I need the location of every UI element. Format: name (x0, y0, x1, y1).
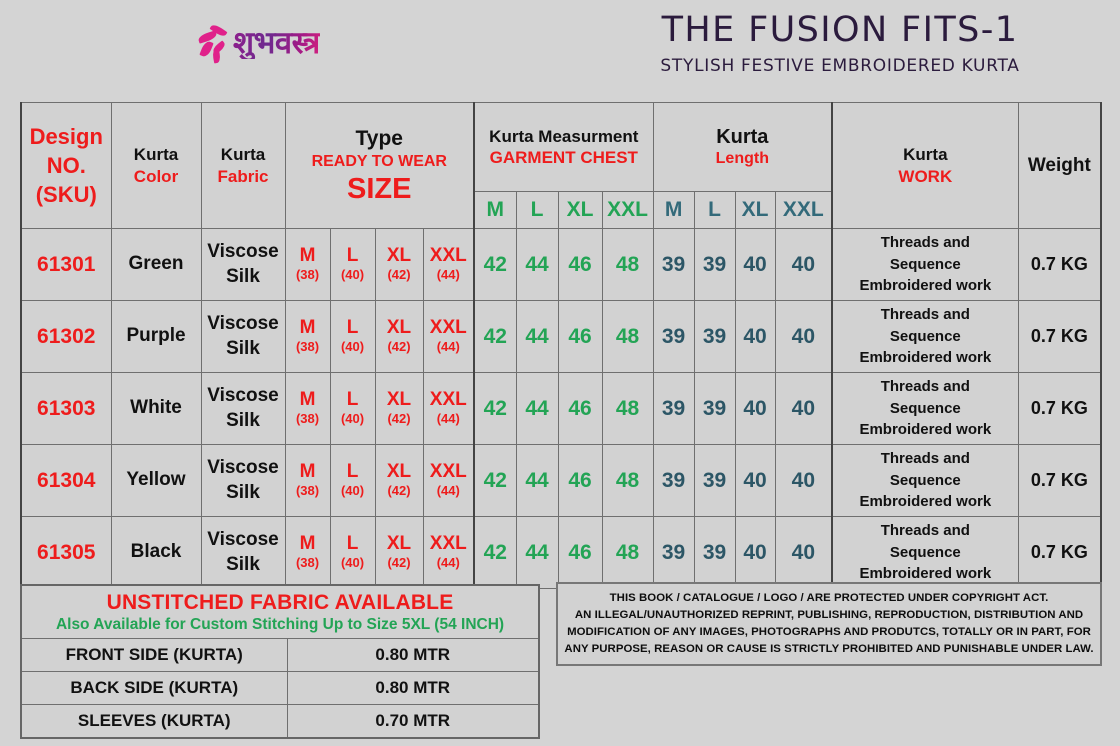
header-kurta-fabric: Kurta Fabric (201, 103, 285, 229)
cell-weight: 0.7 KG (1018, 517, 1101, 589)
cell-fabric: ViscoseSilk (201, 517, 285, 589)
cell-length-l: 39 (694, 229, 735, 301)
copyright-line-1: THIS BOOK / CATALOGUE / LOGO / ARE PROTE… (562, 590, 1096, 607)
cell-chest-xxl: 48 (602, 517, 653, 589)
cell-length-l: 39 (694, 373, 735, 445)
header-ready-to-wear-label: READY TO WEAR (286, 151, 474, 173)
cell-size-xl: XL(42) (375, 445, 423, 517)
cell-chest-xxl: 48 (602, 301, 653, 373)
header-kurta-length-group: Kurta Length (653, 103, 832, 192)
cell-chest-xxl: 48 (602, 229, 653, 301)
cell-length-xxl: 40 (775, 517, 832, 589)
fabric-part-value: 0.80 MTR (287, 672, 538, 705)
cell-fabric: ViscoseSilk (201, 373, 285, 445)
header-fabric-line1: Kurta (202, 144, 285, 165)
cell-size-xxl: XXL(44) (423, 229, 474, 301)
cell-length-xl: 40 (735, 373, 775, 445)
cell-weight: 0.7 KG (1018, 229, 1101, 301)
header-chest-xl: XL (558, 192, 602, 229)
header-kurta-color: Kurta Color (111, 103, 201, 229)
header-weight-label: Weight (1019, 155, 1101, 177)
cell-size-l: L(40) (330, 301, 375, 373)
header-type-label: Type (286, 126, 474, 151)
header-chest-l: L (516, 192, 558, 229)
header-kurta-label: Kurta (654, 125, 832, 149)
page-subtitle: STYLISH FESTIVE EMBROIDERED KURTA (560, 56, 1120, 76)
fabric-part-label: SLEEVES (KURTA) (22, 705, 287, 738)
fabric-part-value: 0.70 MTR (287, 705, 538, 738)
table-header-row-top: Design NO. (SKU) Kurta Color Kurta Fabri… (21, 103, 1101, 192)
table-row: 61302PurpleViscoseSilkM(38)L(40)XL(42)XX… (21, 301, 1101, 373)
header-length-xl: XL (735, 192, 775, 229)
header-design-line1: Design (22, 122, 111, 151)
fabric-row: SLEEVES (KURTA)0.70 MTR (22, 705, 538, 738)
cell-chest-xxl: 48 (602, 373, 653, 445)
cell-color: Green (111, 229, 201, 301)
cell-color: Black (111, 517, 201, 589)
cell-chest-l: 44 (516, 517, 558, 589)
header-length-l: L (694, 192, 735, 229)
cell-chest-m: 42 (474, 445, 516, 517)
header-weight: Weight (1018, 103, 1101, 229)
fabric-row: FRONT SIDE (KURTA)0.80 MTR (22, 639, 538, 672)
header-design-no: Design NO. (SKU) (21, 103, 111, 229)
cell-length-xxl: 40 (775, 301, 832, 373)
cell-size-xl: XL(42) (375, 517, 423, 589)
cell-chest-l: 44 (516, 445, 558, 517)
header-fabric-line2: Fabric (202, 166, 285, 187)
cell-size-l: L(40) (330, 517, 375, 589)
cell-size-xxl: XXL(44) (423, 445, 474, 517)
cell-work: Threads andSequenceEmbroidered work (832, 229, 1018, 301)
cell-sku: 61304 (21, 445, 111, 517)
cell-fabric: ViscoseSilk (201, 229, 285, 301)
table-row: 61305BlackViscoseSilkM(38)L(40)XL(42)XXL… (21, 517, 1101, 589)
cell-length-m: 39 (653, 445, 694, 517)
cell-length-xl: 40 (735, 445, 775, 517)
cell-chest-xl: 46 (558, 229, 602, 301)
cell-sku: 61305 (21, 517, 111, 589)
copyright-notice: THIS BOOK / CATALOGUE / LOGO / ARE PROTE… (556, 582, 1102, 666)
header-kurta-work: Kurta WORK (832, 103, 1018, 229)
header-length-xxl: XXL (775, 192, 832, 229)
header-garment-chest-label: GARMENT CHEST (475, 147, 653, 168)
fabric-requirement-table: FRONT SIDE (KURTA)0.80 MTRBACK SIDE (KUR… (22, 638, 538, 737)
header-size-label: SIZE (286, 173, 474, 205)
cell-length-m: 39 (653, 517, 694, 589)
cell-chest-m: 42 (474, 301, 516, 373)
cell-chest-l: 44 (516, 301, 558, 373)
cell-chest-m: 42 (474, 517, 516, 589)
cell-size-m: M(38) (285, 229, 330, 301)
cell-color: Yellow (111, 445, 201, 517)
page-banner: शुभवस्त्र THE FUSION FITS-1 STYLISH FEST… (0, 0, 1120, 95)
cell-work: Threads andSequenceEmbroidered work (832, 445, 1018, 517)
cell-sku: 61301 (21, 229, 111, 301)
cell-color: White (111, 373, 201, 445)
title-block: THE FUSION FITS-1 STYLISH FESTIVE EMBROI… (560, 12, 1120, 76)
header-work-line2: WORK (833, 166, 1018, 187)
table-row: 61303WhiteViscoseSilkM(38)L(40)XL(42)XXL… (21, 373, 1101, 445)
table-body: 61301GreenViscoseSilkM(38)L(40)XL(42)XXL… (21, 229, 1101, 589)
page-title: THE FUSION FITS-1 (560, 12, 1120, 49)
header-chest-m: M (474, 192, 516, 229)
custom-stitching-note: Also Available for Custom Stitching Up t… (22, 616, 538, 638)
copyright-line-2: AN ILLEGAL/UNAUTHORIZED REPRINT, PUBLISH… (562, 607, 1096, 624)
header-length-label: Length (654, 149, 832, 170)
cell-length-m: 39 (653, 373, 694, 445)
cell-chest-l: 44 (516, 373, 558, 445)
cell-chest-xl: 46 (558, 301, 602, 373)
cell-work: Threads andSequenceEmbroidered work (832, 373, 1018, 445)
unstitched-title: UNSTITCHED FABRIC AVAILABLE (22, 586, 538, 616)
copyright-line-4: ANY PURPOSE, REASON OR CAUSE IS STRICTLY… (562, 641, 1096, 658)
header-length-m: M (653, 192, 694, 229)
cell-length-m: 39 (653, 301, 694, 373)
cell-size-xl: XL(42) (375, 301, 423, 373)
cell-length-xl: 40 (735, 229, 775, 301)
cell-fabric: ViscoseSilk (201, 301, 285, 373)
cell-length-xxl: 40 (775, 373, 832, 445)
header-design-line3: (SKU) (22, 180, 111, 209)
cell-chest-l: 44 (516, 229, 558, 301)
cell-size-m: M(38) (285, 445, 330, 517)
fabric-part-value: 0.80 MTR (287, 639, 538, 672)
cell-size-xxl: XXL(44) (423, 373, 474, 445)
cell-weight: 0.7 KG (1018, 445, 1101, 517)
cell-length-m: 39 (653, 229, 694, 301)
header-type-size: Type READY TO WEAR SIZE (285, 103, 474, 229)
brand-logo-text: शुभवस्त्र (233, 28, 320, 59)
cell-sku: 61303 (21, 373, 111, 445)
cell-size-l: L(40) (330, 445, 375, 517)
cell-chest-xxl: 48 (602, 445, 653, 517)
cell-weight: 0.7 KG (1018, 301, 1101, 373)
cell-size-m: M(38) (285, 301, 330, 373)
cell-size-m: M(38) (285, 517, 330, 589)
cell-chest-m: 42 (474, 373, 516, 445)
cell-chest-xl: 46 (558, 373, 602, 445)
cell-size-l: L(40) (330, 373, 375, 445)
swirl-ornament-icon (198, 23, 232, 63)
header-measurement-label: Kurta Measurment (475, 126, 653, 147)
cell-chest-m: 42 (474, 229, 516, 301)
cell-size-xxl: XXL(44) (423, 517, 474, 589)
fabric-part-label: BACK SIDE (KURTA) (22, 672, 287, 705)
brand-logo: शुभवस्त्र (198, 19, 368, 67)
cell-chest-xl: 46 (558, 445, 602, 517)
header-garment-chest-group: Kurta Measurment GARMENT CHEST (474, 103, 653, 192)
cell-length-xl: 40 (735, 301, 775, 373)
cell-length-xxl: 40 (775, 229, 832, 301)
header-design-line2: NO. (22, 151, 111, 180)
cell-work: Threads andSequenceEmbroidered work (832, 301, 1018, 373)
fabric-part-label: FRONT SIDE (KURTA) (22, 639, 287, 672)
cell-size-l: L(40) (330, 229, 375, 301)
cell-length-xl: 40 (735, 517, 775, 589)
cell-size-m: M(38) (285, 373, 330, 445)
table-row: 61304YellowViscoseSilkM(38)L(40)XL(42)XX… (21, 445, 1101, 517)
cell-length-l: 39 (694, 445, 735, 517)
table-row: 61301GreenViscoseSilkM(38)L(40)XL(42)XXL… (21, 229, 1101, 301)
fabric-row: BACK SIDE (KURTA)0.80 MTR (22, 672, 538, 705)
unstitched-fabric-panel: UNSTITCHED FABRIC AVAILABLE Also Availab… (20, 584, 540, 739)
cell-sku: 61302 (21, 301, 111, 373)
cell-size-xl: XL(42) (375, 373, 423, 445)
product-spec-table: Design NO. (SKU) Kurta Color Kurta Fabri… (20, 102, 1102, 589)
cell-chest-xl: 46 (558, 517, 602, 589)
header-work-line1: Kurta (833, 144, 1018, 165)
cell-size-xxl: XXL(44) (423, 301, 474, 373)
header-chest-xxl: XXL (602, 192, 653, 229)
header-color-line2: Color (112, 166, 201, 187)
cell-length-xxl: 40 (775, 445, 832, 517)
cell-weight: 0.7 KG (1018, 373, 1101, 445)
cell-color: Purple (111, 301, 201, 373)
cell-length-l: 39 (694, 517, 735, 589)
cell-fabric: ViscoseSilk (201, 445, 285, 517)
copyright-line-3: MODIFICATION OF ANY IMAGES, PHOTOGRAPHS … (562, 624, 1096, 641)
cell-size-xl: XL(42) (375, 229, 423, 301)
cell-length-l: 39 (694, 301, 735, 373)
cell-work: Threads andSequenceEmbroidered work (832, 517, 1018, 589)
header-color-line1: Kurta (112, 144, 201, 165)
